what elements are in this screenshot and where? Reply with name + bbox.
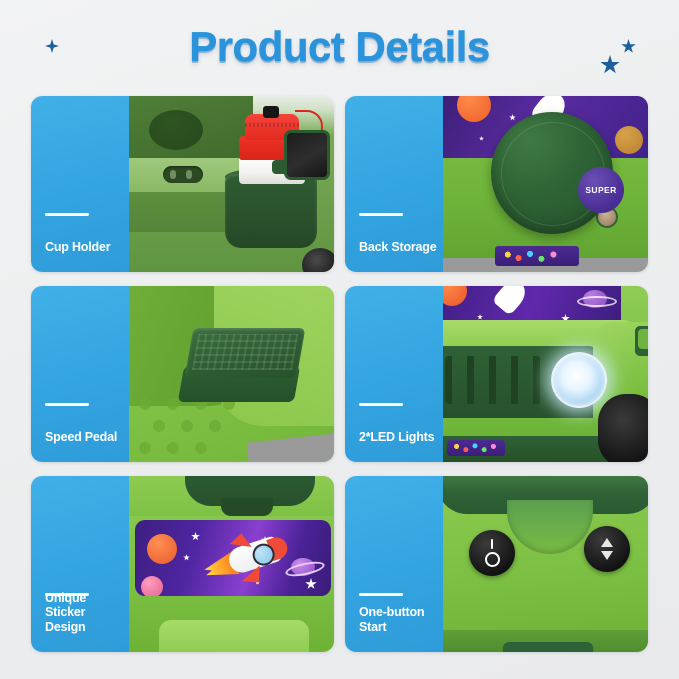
card-label-panel: Speed Pedal	[31, 286, 129, 462]
label-divider-rule	[359, 213, 403, 216]
card-photo-cup-holder	[129, 96, 334, 272]
planet-icon	[457, 96, 491, 122]
star-icon	[191, 532, 200, 541]
star-icon	[509, 114, 516, 121]
led-headlight	[551, 352, 607, 408]
planet-icon	[141, 576, 163, 596]
feature-card-sticker-design[interactable]: Unique Sticker Design	[31, 476, 334, 652]
power-on-bar-icon	[491, 539, 494, 549]
planet-icon	[615, 126, 643, 154]
card-label-panel: One-button Start	[345, 476, 443, 652]
front-tire	[598, 394, 648, 462]
card-label-panel: Unique Sticker Design	[31, 476, 129, 652]
planet-icon	[147, 534, 177, 564]
seat-neck	[221, 498, 273, 516]
steering-column-recess	[507, 500, 593, 554]
card-photo-led-lights	[443, 286, 648, 462]
card-label-text: Cup Holder	[45, 240, 127, 255]
bottle-nozzle	[263, 106, 279, 118]
saturn-icon	[291, 558, 315, 576]
card-label-panel: Back Storage	[345, 96, 443, 272]
card-label-text: Unique Sticker Design	[45, 591, 127, 635]
license-plate	[495, 246, 579, 266]
cup-holder-cup	[225, 174, 317, 248]
power-off-ring-icon	[485, 552, 500, 567]
card-label-text: Speed Pedal	[45, 430, 127, 445]
page-header: Product Details	[0, 0, 679, 96]
planet-icon	[443, 286, 467, 306]
feature-card-led-lights[interactable]: 2*LED Lights	[345, 286, 648, 462]
super-badge-text: SUPER	[585, 185, 616, 195]
card-photo-sticker-design	[129, 476, 334, 652]
console-buttons-icon	[163, 166, 203, 183]
feature-card-back-storage[interactable]: Back Storage SUPER	[345, 96, 648, 272]
rocket-icon	[492, 286, 531, 316]
saturn-icon	[583, 290, 607, 308]
side-mirror	[635, 326, 648, 356]
page-title: Product Details	[0, 23, 679, 71]
speed-pedal-pad	[185, 328, 306, 378]
feature-card-cup-holder[interactable]: Cup Holder	[31, 96, 334, 272]
spare-tire-storage: SUPER	[491, 112, 613, 234]
card-label-text: One-button Start	[359, 605, 441, 634]
arrow-up-icon	[601, 538, 613, 547]
lower-body-shape	[443, 630, 648, 652]
card-label-text: 2*LED Lights	[359, 430, 441, 445]
label-divider-rule	[359, 593, 403, 596]
feature-card-one-button-start[interactable]: One-button Start	[345, 476, 648, 652]
label-divider-rule	[359, 403, 403, 406]
star-icon	[479, 136, 484, 141]
card-photo-speed-pedal	[129, 286, 334, 462]
label-divider-rule	[45, 403, 89, 406]
arrow-down-icon	[601, 551, 613, 560]
wheel-shape	[302, 248, 334, 272]
feature-card-grid: Cup Holder Back Storage	[31, 96, 648, 652]
storage-hub-badge: SUPER	[578, 167, 624, 213]
dashboard-recess	[149, 110, 203, 150]
side-runner	[159, 620, 309, 652]
star-icon	[183, 554, 190, 561]
card-photo-one-button-start	[443, 476, 648, 652]
card-label-panel: 2*LED Lights	[345, 286, 443, 462]
rocket-icon	[207, 524, 292, 593]
space-sticker	[135, 520, 331, 596]
side-mirror	[284, 130, 330, 180]
card-photo-back-storage: SUPER	[443, 96, 648, 272]
card-label-panel: Cup Holder	[31, 96, 129, 272]
power-switch-icon[interactable]	[469, 530, 515, 576]
license-plate	[447, 440, 505, 456]
label-divider-rule	[45, 213, 89, 216]
card-label-text: Back Storage	[359, 240, 441, 255]
speed-switch-icon[interactable]	[584, 526, 630, 572]
star-icon	[305, 578, 317, 590]
feature-card-speed-pedal[interactable]: Speed Pedal	[31, 286, 334, 462]
